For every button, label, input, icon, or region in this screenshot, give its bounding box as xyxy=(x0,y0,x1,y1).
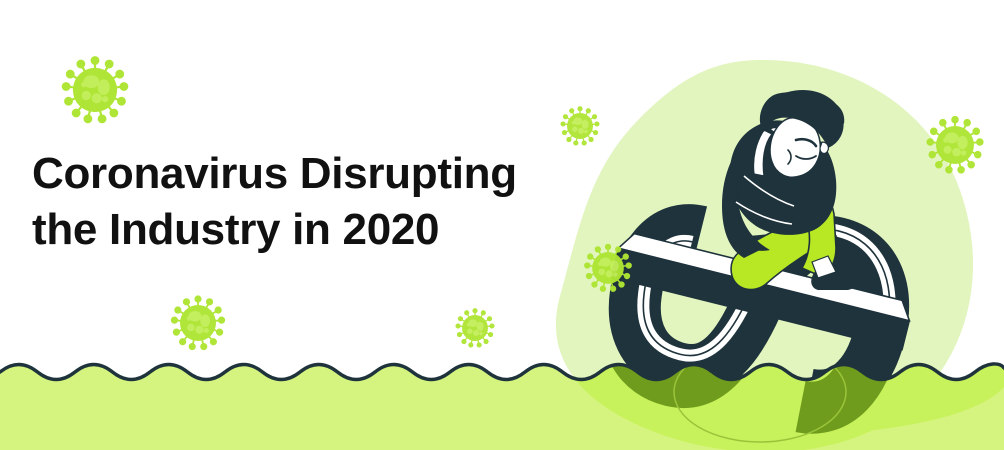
page-title: Coronavirus Disrupting the Industry in 2… xyxy=(32,146,572,259)
coronavirus-industry-banner: Coronavirus Disrupting the Industry in 2… xyxy=(0,0,1004,450)
